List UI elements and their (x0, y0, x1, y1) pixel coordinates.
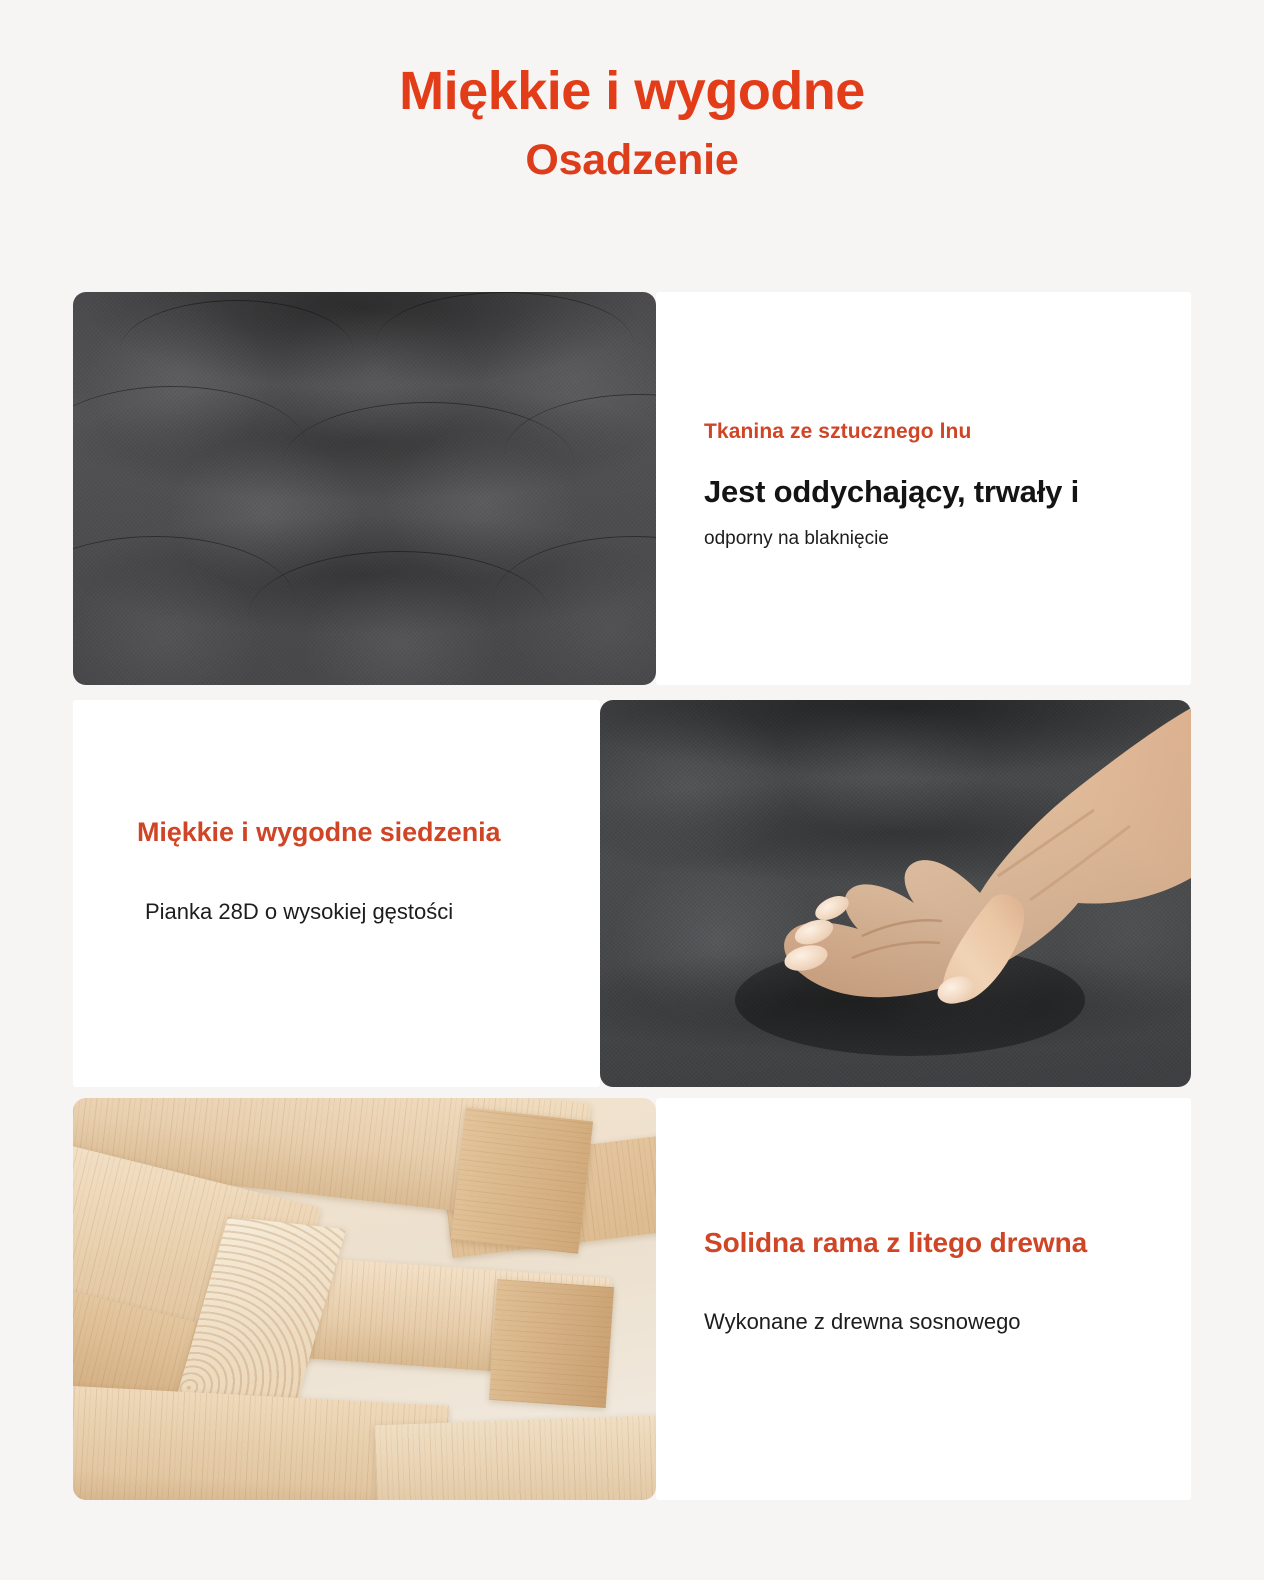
foam-caption: Pianka 28D o wysokiej gęstości (137, 897, 554, 928)
page-header: Miękkie i wygodne Osadzenie (0, 0, 1264, 188)
feature-row-frame: Solidna rama z litego drewna Wykonane z … (73, 1098, 1191, 1500)
frame-text-block: Solidna rama z litego drewna Wykonane z … (656, 1222, 1191, 1337)
frame-headline: Solidna rama z litego drewna (704, 1222, 1145, 1265)
fabric-headline: Tkanina ze sztucznego lnu (704, 418, 1145, 445)
foam-photo (600, 700, 1191, 1087)
foam-text-block: Miękkie i wygodne siedzenia Pianka 28D o… (73, 812, 600, 928)
page-title-line-2: Osadzenie (0, 134, 1264, 188)
fabric-text-card: Tkanina ze sztucznego lnu Jest oddychają… (656, 292, 1191, 685)
foam-text-card: Miękkie i wygodne siedzenia Pianka 28D o… (73, 700, 600, 1087)
frame-text-card: Solidna rama z litego drewna Wykonane z … (656, 1098, 1191, 1500)
frame-photo (73, 1098, 656, 1500)
fabric-image-surface (73, 292, 656, 685)
fabric-caption: odporny na blaknięcie (704, 526, 1145, 552)
foam-headline: Miękkie i wygodne siedzenia (137, 812, 554, 854)
frame-caption: Wykonane z drewna sosnowego (704, 1307, 1145, 1338)
fabric-subline: Jest oddychający, trwały i (704, 473, 1145, 512)
lumber-image-surface (73, 1098, 656, 1500)
page-title-line-1: Miękkie i wygodne (0, 62, 1264, 120)
fabric-text-block: Tkanina ze sztucznego lnu Jest oddychają… (656, 418, 1191, 552)
feature-row-fabric: Tkanina ze sztucznego lnu Jest oddychają… (73, 292, 1191, 685)
fabric-photo (73, 292, 656, 685)
hand-illustration (600, 700, 1191, 1087)
feature-row-foam: Miękkie i wygodne siedzenia Pianka 28D o… (73, 700, 1191, 1087)
